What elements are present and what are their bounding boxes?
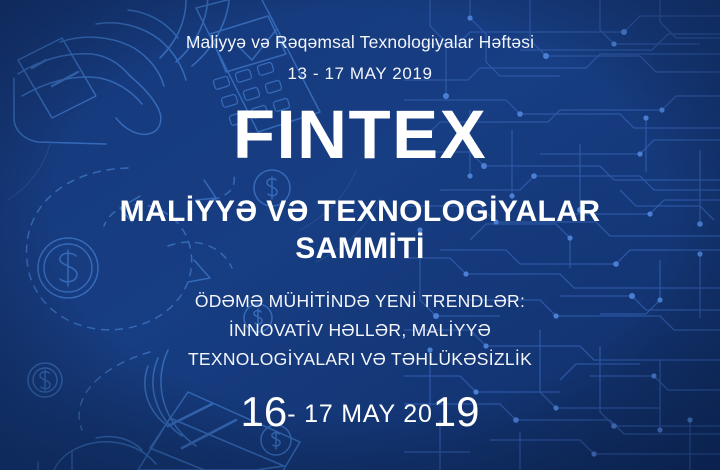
summit-dates: 16- 17 MAY 2019: [0, 388, 720, 438]
summit-title-line-1: MALİYYƏ VƏ TEXNOLOGİYALAR: [0, 195, 720, 229]
summit-date-middle: - 17 MAY 20: [287, 400, 432, 428]
theme-line-1: ÖDƏMƏ MÜHİTİNDƏ YENİ TRENDLƏR:: [0, 287, 720, 316]
brand-logo-fintex: FINTEX: [0, 100, 720, 169]
theme-line-3: TEXNOLOGİYALARI VƏ TƏHLÜKƏSİZLİK: [0, 345, 720, 374]
week-title: Maliyyə və Rəqəmsal Texnologiyalar Həftə…: [0, 32, 720, 53]
summit-title-line-2: SAMMİTİ: [0, 232, 720, 266]
summit-date-year-end: 19: [433, 388, 480, 435]
fintex-poster: Maliyyə və Rəqəmsal Texnologiyalar Həftə…: [0, 0, 720, 470]
theme-line-2: İNNOVATİV HƏLLƏR, MALİYYƏ: [0, 316, 720, 345]
poster-content: Maliyyə və Rəqəmsal Texnologiyalar Həftə…: [0, 0, 720, 470]
week-dates: 13 - 17 MAY 2019: [0, 64, 720, 84]
summit-date-start: 16: [241, 388, 288, 435]
